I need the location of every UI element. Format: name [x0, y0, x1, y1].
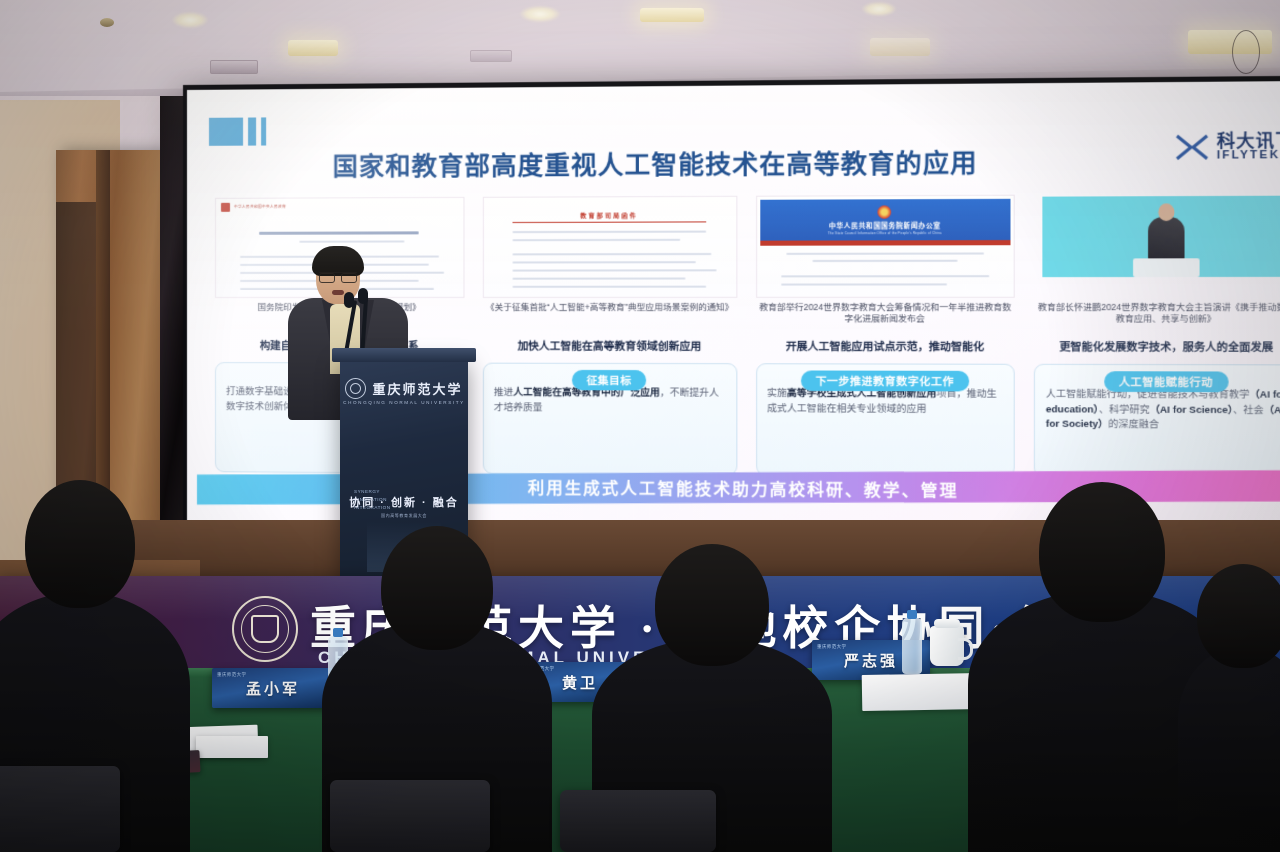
document-stack	[196, 736, 268, 758]
thumb-header-2-en: The State Council Information Office of …	[828, 230, 942, 234]
speaker-silhouette	[1148, 217, 1184, 261]
lectern-slogan-cn: 协同 · 创新 · 融合	[340, 494, 468, 510]
audience-member	[1178, 560, 1280, 852]
iflytek-logo: 科大讯飞 IFLYTEK	[1174, 131, 1280, 163]
ceiling-air-vent	[210, 60, 258, 74]
nameplate-name-2: 严志强	[844, 650, 898, 671]
iflytek-logo-en: IFLYTEK	[1217, 150, 1280, 162]
thumb-header-2: 中华人民共和国国务院新闻办公室	[829, 219, 941, 230]
conference-hall-scene: 国家和教育部高度重视人工智能技术在高等教育的应用 科大讯飞 IFLYTEK	[0, 0, 1280, 852]
thumbnail-minister-speech-photo	[1034, 194, 1280, 298]
card-3-text-d: （AI for Science）	[1150, 404, 1233, 416]
lectern-top	[332, 348, 476, 362]
nameplate-name-0: 孟小军	[246, 678, 300, 699]
lectern-slogan-sub: 国内高等教育发展大会	[340, 513, 468, 519]
chair-back	[330, 780, 490, 852]
ceiling-panel-light	[640, 8, 704, 22]
card-1: 征集目标 推进人工智能在高等教育中的广泛应用，不断提升人才培养质量	[483, 363, 737, 476]
thumbnail-ministry-notice: 教育部司局函件	[483, 196, 737, 298]
lectern-university-en: CHONGQING NORMAL UNIVERSITY	[340, 400, 468, 405]
slide-banner-text: 利用生成式人工智能技术助力高校科研、教学、管理	[528, 474, 959, 501]
nameplate-0: 重庆师范大学 孟小军	[212, 668, 334, 708]
open-book	[862, 673, 983, 711]
ceiling-panel-light	[288, 40, 338, 56]
slide-title: 国家和教育部高度重视人工智能技术在高等教育的应用	[333, 142, 1159, 183]
card-3-text-e: 、社会	[1233, 404, 1264, 416]
card-pill-3: 人工智能赋能行动	[1104, 371, 1228, 392]
headline-2: 开展人工智能应用试点示范，推动智能化	[756, 339, 1015, 362]
slide-decoration-ticks	[209, 117, 266, 145]
national-emblem-icon	[221, 203, 230, 212]
tea-cup	[930, 626, 964, 666]
lectern-slogan: 协同 · 创新 · 融合 国内高等教育发展大会	[340, 494, 468, 519]
ceiling-air-vent	[470, 50, 512, 62]
card-body-3: 人工智能赋能行动，促进智能技术与教育教学（AI for education）、科…	[1046, 388, 1280, 435]
stage-banner-seal-icon	[232, 596, 298, 662]
glasses-icon	[319, 272, 357, 281]
card-body-2: 实施高等学校生成式人工智能创新应用项目，推动生成式人工智能在相关专业领域的应用	[767, 387, 1003, 418]
water-bottle	[902, 618, 922, 674]
ceiling-downlight	[172, 12, 208, 28]
sprinkler-head	[100, 18, 114, 27]
ceiling-downlight	[520, 6, 560, 22]
ceiling-panel-light	[870, 38, 930, 56]
card-3-text-c: 、科学研究	[1099, 404, 1150, 416]
headline-3: 更智能化发展数字技术，服务人的全面发展	[1034, 339, 1280, 362]
card-body-1: 推进人工智能在高等教育中的广泛应用，不断提升人才培养质量	[494, 386, 726, 417]
state-emblem-icon	[878, 205, 892, 218]
microphone-head-icon	[344, 292, 354, 308]
iflytek-logo-cn: 科大讯飞	[1217, 132, 1280, 150]
card-1-text-a: 推进	[494, 387, 513, 398]
card-pill-2: 下一步推进教育数字化工作	[801, 370, 969, 391]
chair-back	[0, 766, 120, 852]
card-pill-1: 征集目标	[572, 370, 646, 391]
caption-2: 教育部举行2024世界数字教育大会筹备情况和一年半推进教育数字化进展新闻发布会	[756, 302, 1015, 339]
card-2-text-a: 实施	[767, 388, 787, 399]
microphone-head-icon	[358, 288, 368, 304]
nameplate-brand-0: 重庆师范大学	[217, 672, 246, 678]
card-2: 下一步推进教育数字化工作 实施高等学校生成式人工智能创新应用项目，推动生成式人工…	[756, 363, 1015, 477]
lectern-university-logo: 重庆师范大学	[340, 378, 468, 399]
lectern-university-cn: 重庆师范大学	[372, 379, 462, 398]
iflytek-mark-icon	[1174, 132, 1211, 163]
headline-1: 加快人工智能在高等教育领域创新应用	[483, 338, 737, 361]
thumb-header-1: 教育部司局函件	[518, 210, 701, 220]
caption-1: 《关于征集首批“人工智能+高等教育”典型应用场景案例的通知》	[483, 302, 737, 339]
photo-podium	[1133, 258, 1200, 277]
thumb-header-0: 中华人民共和国中央人民政府	[234, 205, 286, 210]
card-3-text-g: 的深度融合	[1108, 419, 1159, 431]
university-seal-icon	[345, 378, 366, 399]
ceiling-downlight	[862, 2, 896, 16]
hanging-wire-loop	[1232, 30, 1260, 74]
card-3: 人工智能赋能行动 人工智能赋能行动，促进智能技术与教育教学（AI for edu…	[1034, 364, 1280, 479]
thumbnail-press-conference-website: 中华人民共和国国务院新闻办公室 The State Council Inform…	[756, 195, 1015, 298]
caption-3: 教育部长怀进鹏2024世界数字教育大会主旨演讲《携手推动数字教育应用、共享与创新…	[1034, 302, 1280, 339]
chair-back	[560, 790, 716, 852]
